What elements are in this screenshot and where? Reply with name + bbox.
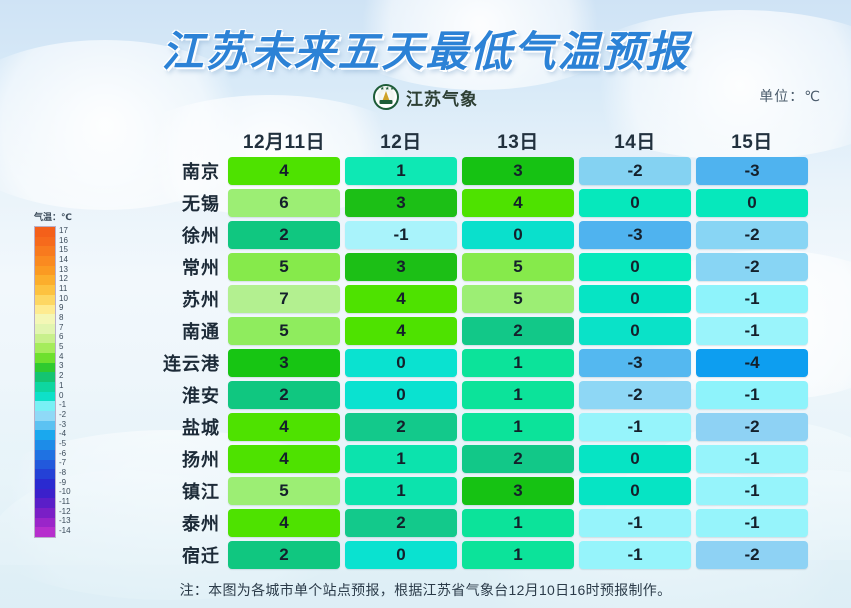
temperature-cell: 1 — [345, 445, 457, 473]
jiangsu-meteorology-emblem-icon: ★★★★★ — [373, 84, 399, 110]
legend-tick-label: 12 — [59, 275, 68, 283]
temperature-cell: -2 — [696, 413, 808, 441]
city-label: 苏州 — [110, 286, 228, 312]
page-title: 江苏未来五天最低气温预报 — [0, 18, 851, 79]
footer-note: 注：本图为各城市单个站点预报，根据江苏省气象台12月10日16时预报制作。 — [0, 580, 851, 600]
temperature-cell: 3 — [462, 477, 574, 505]
legend-tick-label: 3 — [59, 362, 63, 370]
table-row: 常州5350-2 — [110, 252, 830, 282]
temperature-cell: 5 — [462, 285, 574, 313]
temperature-cell: 0 — [345, 541, 457, 569]
legend-swatch — [35, 479, 55, 489]
legend-swatch — [35, 363, 55, 373]
legend-tick-label: 8 — [59, 314, 63, 322]
table-row: 宿迁201-1-2 — [110, 540, 830, 570]
legend-title: 气温：℃ — [34, 210, 86, 223]
legend-swatch — [35, 343, 55, 353]
city-label: 南京 — [110, 158, 228, 184]
temperature-cell: -2 — [696, 221, 808, 249]
temperature-cell: 1 — [462, 541, 574, 569]
temperature-cell: 7 — [228, 285, 340, 313]
temperature-cell: 2 — [228, 541, 340, 569]
temperature-cell: 2 — [345, 413, 457, 441]
temperature-cell: 3 — [228, 349, 340, 377]
temperature-cell: 4 — [228, 509, 340, 537]
legend-swatch — [35, 266, 55, 276]
legend-tick-label: 17 — [59, 227, 68, 235]
legend-tick-label: 16 — [59, 237, 68, 245]
table-body: 南京413-2-3无锡63400徐州2-10-3-2常州5350-2苏州7450… — [110, 156, 830, 570]
brand-logo: ★★★★★ 江苏气象 — [0, 84, 851, 110]
temperature-cell: 0 — [696, 189, 808, 217]
temperature-cell: 1 — [462, 381, 574, 409]
legend-tick-label: 6 — [59, 333, 63, 341]
temperature-cell: 3 — [345, 189, 457, 217]
temperature-cell: -1 — [579, 541, 691, 569]
temperature-cell: 4 — [462, 189, 574, 217]
legend-tick-label: -10 — [59, 488, 71, 496]
temperature-cell: -1 — [696, 285, 808, 313]
temperature-cell: -3 — [696, 157, 808, 185]
table-row: 镇江5130-1 — [110, 476, 830, 506]
temperature-cell: 0 — [579, 189, 691, 217]
temperature-cell: 1 — [462, 349, 574, 377]
legend-tick-label: -14 — [59, 527, 71, 535]
temperature-cell: -2 — [579, 157, 691, 185]
unit-label: 单位：℃ — [759, 86, 821, 106]
legend-body: 17161514131211109876543210-1-2-3-4-5-6-7… — [34, 226, 86, 538]
legend-tick-labels: 17161514131211109876543210-1-2-3-4-5-6-7… — [59, 226, 85, 536]
legend-tick-label: -9 — [59, 479, 66, 487]
forecast-poster: 江苏未来五天最低气温预报 ★★★★★ 江苏气象 单位：℃ 气温：℃ 171615… — [0, 0, 851, 608]
temperature-cell: 2 — [462, 317, 574, 345]
temperature-cell: 5 — [228, 477, 340, 505]
legend-swatch — [35, 256, 55, 266]
city-label: 无锡 — [110, 190, 228, 216]
temperature-cell: -1 — [579, 509, 691, 537]
legend-swatch — [35, 382, 55, 392]
temperature-cell: 4 — [345, 285, 457, 313]
city-label: 南通 — [110, 318, 228, 344]
city-label: 常州 — [110, 254, 228, 280]
legend-swatch — [35, 440, 55, 450]
legend-swatch — [35, 334, 55, 344]
temperature-cell: 6 — [228, 189, 340, 217]
table-row: 盐城421-1-2 — [110, 412, 830, 442]
temperature-cell: -3 — [579, 221, 691, 249]
brand-logo-label: 江苏气象 — [406, 85, 478, 110]
forecast-table: 12月11日12日13日14日15日 南京413-2-3无锡63400徐州2-1… — [110, 124, 830, 572]
table-row: 泰州421-1-1 — [110, 508, 830, 538]
legend-tick-label: 13 — [59, 266, 68, 274]
table-row: 徐州2-10-3-2 — [110, 220, 830, 250]
temperature-cell: 4 — [228, 157, 340, 185]
table-row: 淮安201-2-1 — [110, 380, 830, 410]
city-label: 徐州 — [110, 222, 228, 248]
table-column-header: 14日 — [579, 127, 691, 154]
legend-swatch — [35, 275, 55, 285]
temperature-cell: 1 — [462, 413, 574, 441]
temperature-cell: 0 — [579, 445, 691, 473]
city-label: 泰州 — [110, 510, 228, 536]
legend-swatch — [35, 518, 55, 528]
legend-tick-label: -4 — [59, 430, 66, 438]
table-row: 扬州4120-1 — [110, 444, 830, 474]
legend-tick-label: 9 — [59, 304, 63, 312]
legend-tick-label: -11 — [59, 498, 70, 506]
legend-swatch — [35, 527, 55, 537]
temperature-cell: -4 — [696, 349, 808, 377]
legend-swatch — [35, 227, 55, 237]
temperature-cell: 0 — [579, 477, 691, 505]
temperature-cell: 2 — [462, 445, 574, 473]
legend-swatch — [35, 498, 55, 508]
temperature-cell: 5 — [462, 253, 574, 281]
temperature-cell: -2 — [579, 381, 691, 409]
legend-tick-label: 2 — [59, 372, 63, 380]
temperature-cell: 1 — [345, 157, 457, 185]
legend-swatch — [35, 401, 55, 411]
temperature-cell: 3 — [345, 253, 457, 281]
legend-tick-label: -5 — [59, 440, 66, 448]
city-label: 连云港 — [110, 350, 228, 376]
legend-swatch — [35, 237, 55, 247]
legend-tick-label: 0 — [59, 392, 63, 400]
temperature-cell: -3 — [579, 349, 691, 377]
legend-swatch — [35, 285, 55, 295]
legend-tick-label: -3 — [59, 421, 66, 429]
legend-swatch — [35, 450, 55, 460]
temperature-cell: -1 — [696, 477, 808, 505]
temperature-cell: 0 — [579, 253, 691, 281]
legend-swatch — [35, 421, 55, 431]
temperature-cell: 0 — [579, 285, 691, 313]
temperature-cell: 4 — [228, 445, 340, 473]
temperature-cell: -1 — [696, 445, 808, 473]
legend-tick-label: 4 — [59, 353, 63, 361]
legend-swatch — [35, 353, 55, 363]
city-label: 镇江 — [110, 478, 228, 504]
city-label: 宿迁 — [110, 542, 228, 568]
legend-tick-label: 1 — [59, 382, 63, 390]
legend-swatch — [35, 469, 55, 479]
legend-tick-label: -13 — [59, 517, 71, 525]
city-label: 盐城 — [110, 414, 228, 440]
temperature-cell: -1 — [345, 221, 457, 249]
temperature-cell: 5 — [228, 317, 340, 345]
legend-swatch — [35, 411, 55, 421]
temperature-cell: -1 — [696, 317, 808, 345]
legend-tick-label: -8 — [59, 469, 66, 477]
legend-colorbar — [34, 226, 56, 538]
temperature-color-legend: 气温：℃ 17161514131211109876543210-1-2-3-4-… — [34, 210, 86, 538]
temperature-cell: 4 — [345, 317, 457, 345]
temperature-cell: 2 — [345, 509, 457, 537]
temperature-cell: 2 — [228, 221, 340, 249]
table-row: 南京413-2-3 — [110, 156, 830, 186]
legend-swatch — [35, 372, 55, 382]
table-column-header: 12月11日 — [228, 127, 340, 154]
table-row: 南通5420-1 — [110, 316, 830, 346]
legend-tick-label: 14 — [59, 256, 68, 264]
city-label: 淮安 — [110, 382, 228, 408]
temperature-cell: 1 — [462, 509, 574, 537]
temperature-cell: 0 — [462, 221, 574, 249]
temperature-cell: -2 — [696, 541, 808, 569]
temperature-cell: -1 — [696, 381, 808, 409]
table-column-header: 12日 — [345, 127, 457, 154]
temperature-cell: -2 — [696, 253, 808, 281]
legend-tick-label: -1 — [59, 401, 66, 409]
legend-tick-label: 10 — [59, 295, 68, 303]
legend-swatch — [35, 314, 55, 324]
temperature-cell: 3 — [462, 157, 574, 185]
table-column-header: 15日 — [696, 127, 808, 154]
table-row: 连云港301-3-4 — [110, 348, 830, 378]
table-row: 苏州7450-1 — [110, 284, 830, 314]
legend-tick-label: 7 — [59, 324, 63, 332]
legend-tick-label: 5 — [59, 343, 63, 351]
table-column-header: 13日 — [462, 127, 574, 154]
legend-swatch — [35, 324, 55, 334]
temperature-cell: 0 — [579, 317, 691, 345]
legend-tick-label: -12 — [59, 508, 71, 516]
legend-tick-label: -6 — [59, 450, 66, 458]
temperature-cell: 5 — [228, 253, 340, 281]
temperature-cell: 4 — [228, 413, 340, 441]
legend-swatch — [35, 392, 55, 402]
legend-swatch — [35, 305, 55, 315]
legend-tick-label: -2 — [59, 411, 66, 419]
table-column-headers: 12月11日12日13日14日15日 — [228, 124, 830, 156]
legend-tick-label: -7 — [59, 459, 66, 467]
temperature-cell: 2 — [228, 381, 340, 409]
temperature-cell: -1 — [696, 509, 808, 537]
legend-swatch — [35, 460, 55, 470]
legend-tick-label: 11 — [59, 285, 67, 293]
legend-tick-label: 15 — [59, 246, 68, 254]
temperature-cell: 1 — [345, 477, 457, 505]
legend-swatch — [35, 430, 55, 440]
temperature-cell: -1 — [579, 413, 691, 441]
legend-swatch — [35, 508, 55, 518]
temperature-cell: 0 — [345, 381, 457, 409]
temperature-cell: 0 — [345, 349, 457, 377]
legend-swatch — [35, 246, 55, 256]
legend-swatch — [35, 295, 55, 305]
legend-swatch — [35, 489, 55, 499]
city-label: 扬州 — [110, 446, 228, 472]
table-row: 无锡63400 — [110, 188, 830, 218]
